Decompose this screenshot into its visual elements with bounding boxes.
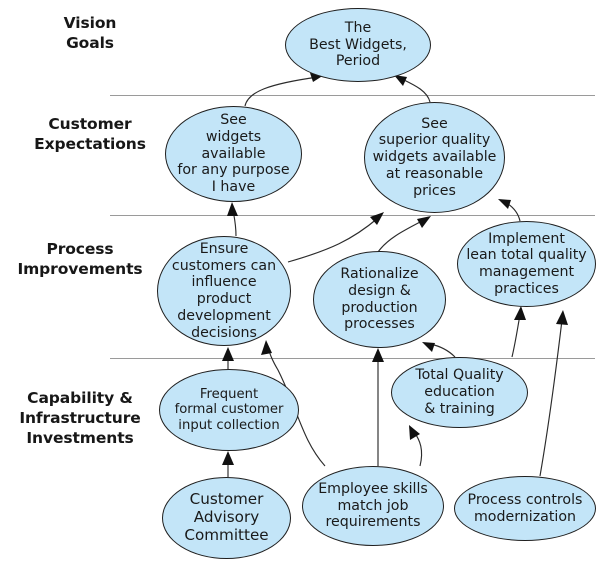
- connector-customer-advisory-to-frequent-input: [222, 451, 234, 477]
- connector-total-quality-training-to-implement-lean-tqm: [512, 306, 526, 357]
- node-implement-lean-tqm-label: Implement lean total quality management …: [458, 231, 595, 298]
- node-customer-advisory-label: Customer Advisory Committee: [163, 491, 290, 545]
- connector-widgets-any-purpose-to-best-widgets: [245, 73, 324, 106]
- node-rationalize-design-label: Rationalize design & production processe…: [314, 266, 445, 333]
- connector-rationalize-design-to-superior-quality: [378, 216, 431, 252]
- connector-employee-skills-to-rationalize-design: [372, 348, 384, 466]
- node-total-quality-training[interactable]: Total Quality education & training: [391, 357, 528, 428]
- node-process-controls-label: Process controls modernization: [455, 492, 595, 526]
- node-implement-lean-tqm[interactable]: Implement lean total quality management …: [457, 221, 596, 307]
- connector-employee-skills-to-total-quality-training: [409, 425, 422, 466]
- node-rationalize-design[interactable]: Rationalize design & production processe…: [313, 251, 446, 348]
- node-ensure-customers-label: Ensure customers can influence product d…: [158, 241, 290, 342]
- strategy-map-diagram: Vision Goals Customer Expectations Proce…: [0, 0, 600, 568]
- node-frequent-input-label: Frequent formal customer input collectio…: [160, 387, 298, 434]
- node-best-widgets-label: The Best Widgets, Period: [286, 20, 430, 70]
- connector-process-controls-to-implement-lean-tqm: [540, 310, 568, 476]
- node-ensure-customers[interactable]: Ensure customers can influence product d…: [157, 236, 291, 346]
- connector-implement-lean-tqm-to-superior-quality: [498, 199, 520, 221]
- connector-total-quality-training-to-rationalize-design: [422, 342, 455, 357]
- node-employee-skills-label: Employee skills match job requirements: [303, 481, 443, 531]
- node-widgets-any-purpose[interactable]: See widgets available for any purpose I …: [165, 106, 302, 202]
- node-best-widgets[interactable]: The Best Widgets, Period: [285, 8, 431, 82]
- node-superior-quality-label: See superior quality widgets available a…: [365, 116, 504, 200]
- connector-frequent-input-to-ensure-customers: [222, 347, 234, 369]
- connector-ensure-customers-to-widgets-any-purpose: [227, 202, 238, 236]
- node-process-controls[interactable]: Process controls modernization: [454, 476, 596, 541]
- node-superior-quality[interactable]: See superior quality widgets available a…: [364, 102, 505, 213]
- node-customer-advisory[interactable]: Customer Advisory Committee: [162, 477, 291, 559]
- connector-superior-quality-to-best-widgets: [394, 75, 430, 102]
- node-total-quality-training-label: Total Quality education & training: [392, 367, 527, 417]
- node-employee-skills[interactable]: Employee skills match job requirements: [302, 466, 444, 546]
- node-frequent-input[interactable]: Frequent formal customer input collectio…: [159, 369, 299, 451]
- node-widgets-any-purpose-label: See widgets available for any purpose I …: [166, 112, 301, 196]
